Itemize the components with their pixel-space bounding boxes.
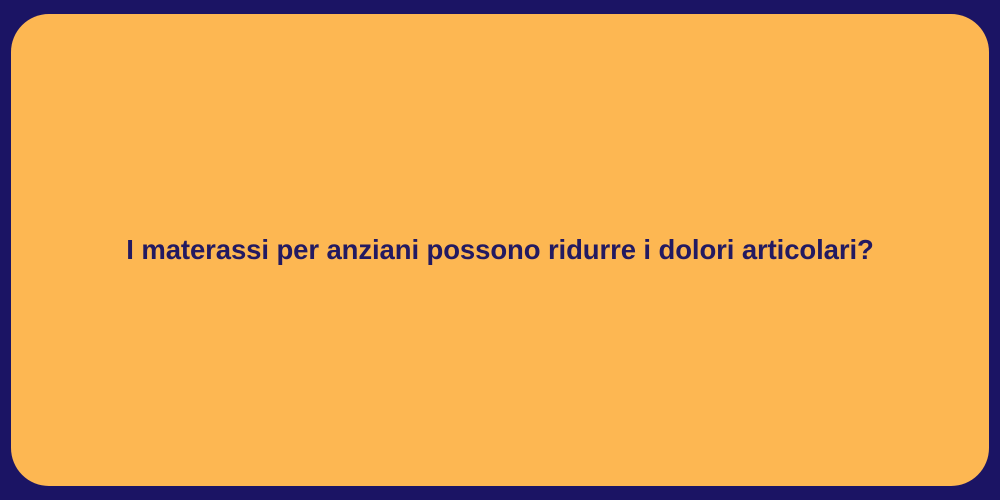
card-panel: I materassi per anziani possono ridurre … [11, 14, 989, 486]
page-title: I materassi per anziani possono ridurre … [126, 231, 873, 268]
card-outer-frame: I materassi per anziani possono ridurre … [0, 0, 1000, 500]
